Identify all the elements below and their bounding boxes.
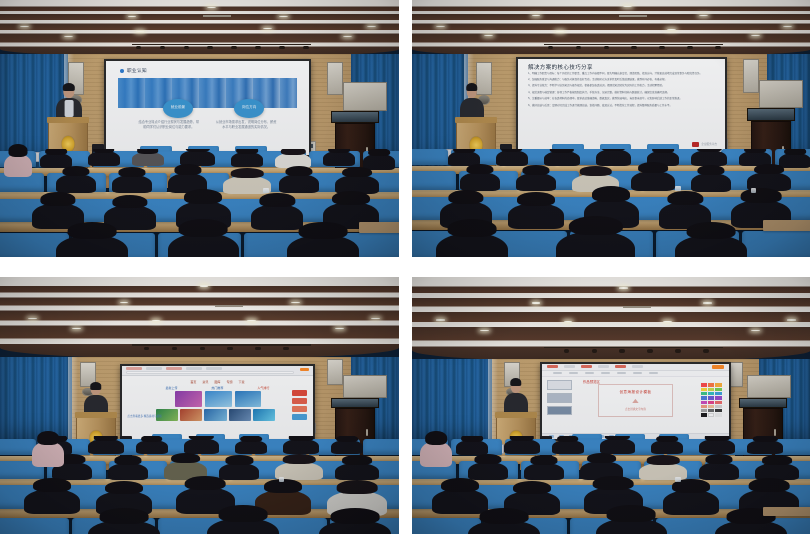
podium-top (495, 412, 537, 418)
podium-top (75, 412, 117, 418)
audience-member (88, 151, 120, 166)
ceiling-vent-icon (623, 306, 651, 308)
audience-member (663, 490, 719, 515)
app-primary-button[interactable] (712, 365, 723, 369)
lecture-hall-scene: 职业认知 就业前景 岗位方向 结合专业特点介绍行业现状与发展趋势，帮助同学们认识… (0, 0, 399, 257)
ceiling-downlight (663, 321, 672, 322)
sidebar-chip[interactable] (292, 406, 307, 412)
ceiling-downlight (699, 15, 708, 16)
audience-member (168, 233, 240, 257)
audience-member (600, 438, 636, 454)
curtain-left (0, 357, 72, 447)
audience-member (675, 235, 747, 257)
slide-photo-band (118, 78, 297, 108)
audience-member (112, 175, 152, 193)
audience-member (779, 153, 810, 168)
wall-speaker (327, 62, 343, 95)
lighting-track (544, 44, 724, 45)
ceiling-downlight (128, 16, 137, 17)
logo-mark-icon (692, 142, 699, 147)
ceiling-downlight (64, 36, 73, 37)
ceiling-downlight (436, 26, 445, 27)
stage-spotlight (576, 46, 582, 48)
podium-top (47, 117, 89, 123)
slide-circle-label: 岗位方向 (234, 99, 265, 119)
stage-spotlight (283, 347, 289, 350)
stage-spotlight (647, 349, 653, 353)
presenter-hair (63, 83, 75, 91)
stage-spotlight (703, 349, 709, 353)
stage-spotlight (687, 46, 693, 48)
asset-thumbnail-panel[interactable] (547, 380, 571, 415)
stage-spotlight (631, 46, 637, 48)
audience-member (136, 440, 168, 454)
browser-tab-strip[interactable] (126, 367, 222, 370)
audience-member (279, 174, 319, 193)
ceiling (0, 277, 399, 359)
ceiling-downlight (28, 318, 37, 319)
stage-spotlight (675, 349, 681, 353)
door-transom (331, 398, 379, 408)
slide-circle-label: 就业前景 (163, 99, 194, 119)
feature-tile[interactable] (205, 391, 232, 407)
ceiling-downlight (564, 321, 573, 322)
air-conditioner-unit (747, 375, 791, 398)
feature-tile[interactable] (175, 391, 202, 407)
nav-item[interactable]: 首页 (190, 380, 196, 384)
audience-member (88, 439, 124, 454)
slide-body-line: 1、明确工作职责与目标：每个岗位的工作职责、重点工作内容都不同，要先明确自身定位… (528, 72, 717, 76)
stage-spotlight (279, 46, 285, 48)
photo-bottom-left[interactable]: 首页 资讯 图库 专题 下载 最新上传 热门推荐 人气排行 (0, 277, 399, 534)
ceiling-downlight (783, 26, 792, 27)
ceiling-downlight (120, 302, 129, 303)
projection-screen-frame: 作品预览区 创意海报设计模板 点击替换文字内容 (540, 362, 732, 442)
audience-member (651, 440, 683, 454)
color-palette[interactable] (701, 383, 722, 416)
lighting-track (132, 44, 312, 45)
audience-member (235, 440, 267, 454)
ceiling-downlight (279, 16, 288, 17)
front-row-attendee (420, 441, 452, 467)
audience-member (699, 439, 735, 454)
ceiling-downlight (787, 319, 796, 320)
ceiling-downlight (152, 320, 161, 321)
ceiling-downlight (703, 302, 712, 303)
stage-spotlight (184, 46, 190, 48)
ceiling-downlight (619, 287, 628, 288)
thumbnail-row[interactable] (156, 409, 275, 421)
sidebar-chip[interactable] (292, 414, 307, 420)
asset-thumbnail[interactable] (547, 393, 571, 403)
feature-tile[interactable] (235, 391, 262, 407)
front-row-attendee (32, 441, 64, 467)
canvas-subtext: 点击替换文字内容 (625, 407, 646, 411)
audience-member (508, 203, 564, 229)
stage-spotlight (303, 46, 309, 48)
audience-member (251, 204, 303, 230)
stage-spotlight (227, 347, 233, 350)
ceiling-downlight (343, 36, 352, 37)
stage-spotlight (160, 46, 166, 48)
audience-member (132, 152, 164, 166)
slide-logo: 企业服务平台 (692, 142, 717, 147)
projection-screen-frame: 职业认知 就业前景 岗位方向 结合专业特点介绍行业现状与发展趋势，帮助同学们认识… (104, 59, 311, 157)
ceiling-downlight (263, 28, 272, 29)
sidebar-chip-list[interactable] (292, 390, 307, 419)
projection-screen-frame: 解决方案的核心技巧分享 1、明确工作职责与目标：每个岗位的工作职责、重点工作内容… (516, 57, 727, 155)
nav-item[interactable]: 专题 (226, 380, 232, 384)
stage-spotlight (172, 347, 178, 350)
photo-top-right[interactable]: 解决方案的核心技巧分享 1、明确工作职责与目标：每个岗位的工作职责、重点工作内容… (412, 0, 810, 257)
air-conditioner-unit (343, 375, 387, 398)
presenter-shirt (64, 100, 73, 116)
stage-spotlight (619, 349, 625, 353)
audience-member (363, 154, 395, 169)
audience-member (184, 438, 220, 454)
audience-member (436, 233, 508, 257)
audience-member (24, 489, 80, 514)
ceiling-downlight (480, 330, 489, 331)
sidebar-chip[interactable] (292, 390, 307, 396)
slide-body-line: 6、做好总结与反思：定期对已完成工作进行梳理总结，查找问题、改进方法，不断优化工… (528, 104, 717, 108)
ceiling-vent-icon (215, 305, 243, 307)
tag-item[interactable]: 人气排行 (257, 386, 269, 390)
stage-spotlight (604, 46, 610, 48)
lecture-hall-scene: 作品预览区 创意海报设计模板 点击替换文字内容 (412, 277, 810, 534)
ceiling-downlight (751, 330, 760, 331)
paper-bag (359, 222, 399, 233)
audience-seating (412, 436, 810, 534)
sidebar-chip[interactable] (292, 398, 307, 404)
stage-spotlight (715, 46, 721, 48)
slide-title: 职业认知 (127, 68, 147, 74)
ceiling-downlight (556, 31, 565, 32)
ceiling-downlight (371, 318, 380, 319)
lecture-hall-scene: 解决方案的核心技巧分享 1、明确工作职责与目标：每个岗位的工作职责、重点工作内容… (412, 0, 810, 257)
wall-speaker (327, 359, 343, 385)
site-tag-row[interactable]: 最新上传 热门推荐 人气排行 (148, 386, 286, 390)
photo-top-left[interactable]: 职业认知 就业前景 岗位方向 结合专业特点介绍行业现状与发展趋势，帮助同学们认识… (0, 0, 399, 257)
sidebar-note: 点击查看更多 精选素材与模板 (127, 415, 161, 419)
audience-member (596, 149, 632, 166)
audience-member (544, 151, 580, 166)
audience-member (456, 440, 488, 455)
presenter-hair (510, 378, 521, 386)
ceiling-downlight (200, 285, 209, 286)
audience-member (516, 173, 556, 191)
ceiling (0, 0, 399, 57)
ceiling-vent-icon (203, 15, 231, 17)
canvas-title: 作品预览区 (583, 379, 600, 384)
door-transom (739, 398, 787, 408)
audience-member (468, 462, 508, 481)
nav-item[interactable]: 下载 (238, 380, 244, 384)
podium-top (455, 117, 497, 123)
asset-thumbnail[interactable] (547, 380, 571, 390)
ceiling-downlight (367, 26, 376, 27)
audience-seating (412, 149, 810, 257)
stage-spotlight (207, 46, 213, 48)
feature-tile-row[interactable] (175, 391, 261, 407)
projection-screen: 职业认知 就业前景 岗位方向 结合专业特点介绍行业现状与发展趋势，帮助同学们认识… (106, 61, 309, 155)
ceiling-downlight (751, 35, 760, 36)
audience-member (432, 489, 488, 514)
front-row-attendee (4, 154, 32, 177)
stage-spotlight (231, 46, 237, 48)
stage-spotlight (144, 347, 150, 350)
water-bottle (263, 188, 268, 193)
slide-body-line: 2、加强服务意识与沟通能力：与服务对象保持良好互动，主动倾听对方诉求并及时反馈处… (528, 78, 717, 82)
ceiling-downlight (207, 7, 216, 8)
ceiling-vent-icon (619, 15, 647, 17)
wall-speaker (743, 59, 759, 92)
audience-member (108, 463, 148, 481)
lighting-track (132, 344, 312, 345)
stage-spotlight (136, 46, 142, 48)
audience-member (219, 463, 259, 481)
water-bottle (751, 188, 756, 193)
audience-member (323, 151, 355, 166)
audience-member (699, 462, 739, 481)
slide-body: 1、明确工作职责与目标：每个岗位的工作职责、重点工作内容都不同，要先明确自身定位… (528, 72, 717, 110)
ceiling-downlight (136, 31, 145, 32)
nav-item[interactable]: 图库 (214, 380, 220, 384)
ceiling-downlight (623, 6, 632, 7)
ceiling-downlight (335, 328, 344, 329)
lecture-hall-scene: 首页 资讯 图库 专题 下载 最新上传 热门推荐 人气排行 (0, 277, 399, 534)
ceiling-downlight (72, 328, 81, 329)
thumbnail[interactable] (253, 409, 275, 421)
asset-thumbnail[interactable] (547, 406, 571, 416)
audience-member (231, 152, 263, 167)
stage-spotlight (659, 46, 665, 48)
stage-spotlight (255, 347, 261, 350)
projection-screen-frame: 首页 资讯 图库 专题 下载 最新上传 热门推荐 人气排行 (120, 364, 316, 441)
audience-member (524, 463, 564, 481)
water-bottle (279, 477, 284, 482)
audience-member (460, 172, 500, 191)
canvas-headline: 创意海报设计模板 (619, 390, 651, 395)
browser-chrome (122, 366, 314, 376)
audience-member (56, 174, 96, 193)
ceiling-downlight (436, 319, 445, 320)
photo-bottom-right[interactable]: 作品预览区 创意海报设计模板 点击替换文字内容 (412, 277, 810, 534)
browser-action-button[interactable] (300, 368, 310, 371)
slide-body-line: 4、规范流程与档案管理：各项工作严格按照制度执行，手续齐全、记录完整，做好资料归… (528, 91, 717, 95)
ceiling-downlight (291, 302, 300, 303)
paper-bag (763, 220, 810, 231)
paper-bag (763, 507, 810, 517)
ceiling-downlight (247, 320, 256, 321)
canvas-shape-icon (632, 399, 639, 403)
audience-member (496, 150, 528, 166)
water-bottle (675, 477, 680, 482)
browser-projection: 首页 资讯 图库 专题 下载 最新上传 热门推荐 人气排行 (122, 366, 314, 439)
stage-spotlight (592, 349, 598, 353)
tag-item[interactable]: 最新上传 (165, 386, 177, 390)
air-conditioner-unit (759, 80, 803, 108)
ceiling-downlight (667, 29, 676, 30)
logo-text: 企业服务平台 (701, 142, 717, 146)
water-bottle (675, 186, 680, 191)
ceiling-downlight (532, 302, 541, 303)
nav-item[interactable]: 资讯 (202, 380, 208, 384)
projection-screen: 解决方案的核心技巧分享 1、明确工作职责与目标：每个岗位的工作职责、重点工作内容… (518, 59, 725, 153)
presenter-hair (90, 382, 101, 390)
stage-spotlight (548, 46, 554, 48)
ceiling-downlight (484, 35, 493, 36)
slide-body-line: 5、注重细节与效率：在各类材料的办理中，要求表达准确清晰、数据真实，做到快速响应… (528, 97, 717, 101)
ceiling-downlight (532, 15, 541, 16)
slide-paragraph: 结合专业特点介绍行业现状与发展趋势，帮助同学们认识职业岗位与能力要求。 (138, 120, 199, 130)
tag-item[interactable]: 热门推荐 (211, 386, 223, 390)
lighting-track (544, 347, 724, 348)
ceiling-downlight (20, 26, 29, 27)
thumbnail[interactable] (180, 409, 202, 421)
ceiling (412, 277, 810, 362)
presenter-hair (466, 83, 477, 91)
slide-paragraph: 从就业市场需求出发，说明岗位分布、薪资水平与职业发展通道的实际情况。 (216, 120, 277, 130)
thumbnail[interactable] (229, 409, 251, 421)
wall-speaker (476, 62, 492, 95)
design-app-projection: 作品预览区 创意海报设计模板 点击替换文字内容 (542, 364, 730, 440)
stage-spotlight (200, 347, 206, 350)
thumbnail[interactable] (204, 409, 226, 421)
app-ribbon[interactable] (542, 371, 730, 378)
stage-spotlight (564, 349, 570, 353)
door-transom (331, 111, 379, 124)
photo-grid: 职业认知 就业前景 岗位方向 结合专业特点介绍行业现状与发展趋势，帮助同学们认识… (0, 0, 810, 535)
app-toolbar[interactable] (542, 364, 730, 371)
audience-member (335, 463, 379, 481)
audience-member (631, 171, 675, 192)
slide-title-row: 职业认知 (120, 68, 147, 74)
browser-address-bar[interactable] (126, 371, 295, 374)
audience-member (287, 235, 359, 257)
slide-body-line: 3、提升专业能力：不断学习业务知识与操作规范，积极参加各类培训，把理论知识转化为… (528, 84, 717, 88)
audience-member (504, 439, 540, 454)
bullet-dot-icon (120, 69, 124, 73)
door-transom (747, 108, 795, 121)
site-nav-row[interactable]: 首页 资讯 图库 专题 下载 (137, 380, 298, 384)
air-conditioner-unit (343, 82, 387, 110)
stage-spotlight (255, 46, 261, 48)
ceiling (412, 0, 810, 57)
audience-member (747, 440, 783, 454)
audience-member (552, 440, 584, 454)
audience-seating (0, 149, 399, 257)
audience-member (56, 235, 128, 257)
design-canvas[interactable]: 创意海报设计模板 点击替换文字内容 (598, 384, 673, 417)
audience-member (331, 440, 363, 454)
audience-member (283, 439, 319, 454)
slide-title: 解决方案的核心技巧分享 (528, 63, 593, 71)
audience-member (691, 173, 731, 192)
